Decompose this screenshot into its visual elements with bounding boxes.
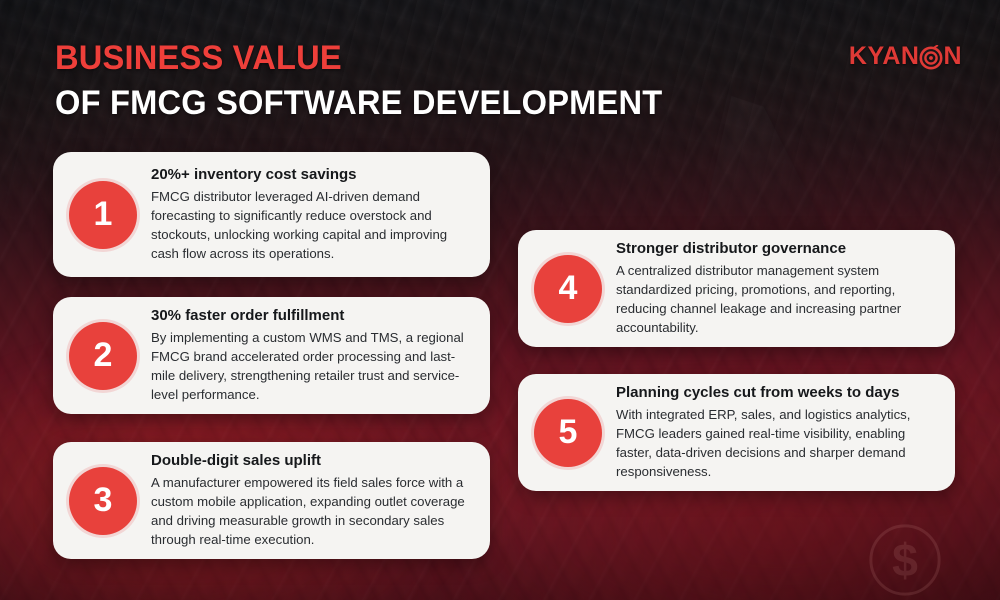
value-card: 2 30% faster order fulfillment By implem… bbox=[53, 297, 490, 414]
logo-text-part-1: KYAN bbox=[849, 42, 920, 71]
card-body: 20%+ inventory cost savings FMCG distrib… bbox=[151, 166, 474, 264]
dollar-coin-icon: $ bbox=[866, 521, 944, 599]
card-description: With integrated ERP, sales, and logistic… bbox=[616, 405, 935, 481]
card-body: Stronger distributor governance A centra… bbox=[616, 240, 939, 338]
card-number-badge: 4 bbox=[534, 255, 602, 323]
value-card: 1 20%+ inventory cost savings FMCG distr… bbox=[53, 152, 490, 277]
card-description: A centralized distributor management sys… bbox=[616, 261, 935, 337]
card-body: Planning cycles cut from weeks to days W… bbox=[616, 384, 939, 482]
svg-text:$: $ bbox=[892, 534, 918, 586]
card-title: 20%+ inventory cost savings bbox=[151, 166, 470, 185]
page-title-line-1: BUSINESS VALUE bbox=[55, 39, 342, 78]
card-title: Stronger distributor governance bbox=[616, 240, 935, 259]
card-body: 30% faster order fulfillment By implemen… bbox=[151, 307, 474, 405]
card-title: Double-digit sales uplift bbox=[151, 452, 470, 471]
poster-header: BUSINESS VALUE OF FMCG SOFTWARE DEVELOPM… bbox=[0, 0, 1000, 140]
value-card: 4 Stronger distributor governance A cent… bbox=[518, 230, 955, 347]
kyanon-logo[interactable]: KYAN N bbox=[849, 42, 962, 71]
card-title: Planning cycles cut from weeks to days bbox=[616, 384, 935, 403]
card-description: FMCG distributor leveraged AI-driven dem… bbox=[151, 187, 470, 263]
card-body: Double-digit sales uplift A manufacturer… bbox=[151, 452, 474, 550]
page-title-line-2: OF FMCG SOFTWARE DEVELOPMENT bbox=[55, 84, 662, 123]
card-description: A manufacturer empowered its field sales… bbox=[151, 473, 470, 549]
card-number-badge: 3 bbox=[69, 467, 137, 535]
card-number-badge: 5 bbox=[534, 399, 602, 467]
spiral-target-icon bbox=[919, 45, 943, 70]
value-card: 5 Planning cycles cut from weeks to days… bbox=[518, 374, 955, 491]
infographic-poster: $ BUSINESS VALUE OF FMCG SOFTWARE DEVELO… bbox=[0, 0, 1000, 600]
card-title: 30% faster order fulfillment bbox=[151, 307, 470, 326]
logo-text-part-2: N bbox=[943, 42, 962, 71]
value-card: 3 Double-digit sales uplift A manufactur… bbox=[53, 442, 490, 559]
card-number-badge: 2 bbox=[69, 322, 137, 390]
card-number-badge: 1 bbox=[69, 181, 137, 249]
card-description: By implementing a custom WMS and TMS, a … bbox=[151, 328, 470, 404]
